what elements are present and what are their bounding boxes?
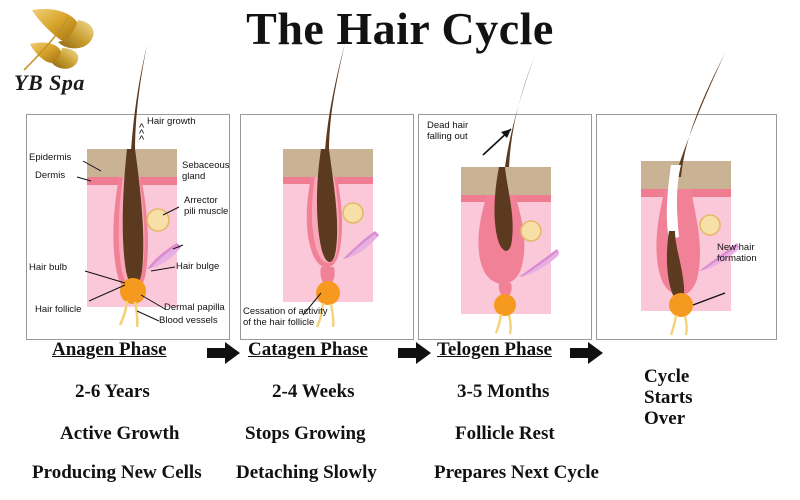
label-hair-growth: Hair growth: [147, 117, 196, 128]
duration-catagen: 2-4 Weeks: [272, 381, 355, 403]
label-epidermis: Epidermis: [29, 153, 71, 164]
duration-anagen: 2-6 Years: [75, 381, 150, 403]
label-blood-vessels: Blood vessels: [159, 316, 218, 327]
label-arrector-pili-muscle: Arrector pili muscle: [184, 196, 228, 217]
label-dermal-papilla: Dermal papilla: [164, 303, 225, 314]
label-hair-bulb: Hair bulb: [29, 263, 67, 274]
panel-restart: New hair formation: [596, 114, 777, 340]
phase-title-anagen: Anagen Phase: [52, 339, 167, 361]
detail-anagen-1: Active Growth: [60, 423, 179, 445]
detail-telogen-2: Prepares Next Cycle: [434, 462, 599, 484]
panel-catagen: Cessation of activity of the hair follic…: [240, 114, 414, 340]
label-dermis: Dermis: [35, 171, 65, 182]
duration-telogen: 3-5 Months: [457, 381, 549, 403]
detail-catagen-1: Stops Growing: [245, 423, 366, 445]
restart-diagram: [597, 115, 776, 339]
telogen-diagram: [419, 115, 591, 339]
panel-anagen: ^ ^ ^ Hair growth Epidermis Dermis Sebac…: [26, 114, 230, 340]
detail-anagen-2: Producing New Cells: [32, 462, 202, 484]
cycle-restart-text: Cycle Starts Over: [644, 366, 693, 429]
label-hair-follicle: Hair follicle: [35, 305, 81, 316]
label-new-hair-formation: New hair formation: [717, 243, 757, 264]
detail-catagen-2: Detaching Slowly: [236, 462, 377, 484]
phase-title-catagen: Catagen Phase: [248, 339, 368, 361]
right-arrow-icon-2: [398, 341, 432, 365]
right-arrow-icon-1: [207, 341, 241, 365]
svg-text:^: ^: [139, 134, 145, 146]
phase-title-telogen: Telogen Phase: [437, 339, 552, 361]
label-cessation-of-activity: Cessation of activity of the hair follic…: [243, 307, 327, 328]
label-hair-bulge: Hair bulge: [176, 262, 219, 273]
brand-name: YB Spa: [14, 70, 114, 96]
label-dead-hair-falling-out: Dead hair falling out: [427, 121, 468, 142]
detail-telogen-1: Follicle Rest: [455, 423, 555, 445]
right-arrow-icon-3: [570, 341, 604, 365]
infographic-canvas: YB Spa The Hair Cycle: [0, 0, 800, 500]
label-sebaceous-gland: Sebaceous gland: [182, 161, 230, 182]
panel-telogen: Dead hair falling out: [418, 114, 592, 340]
page-title: The Hair Cycle: [0, 2, 800, 55]
